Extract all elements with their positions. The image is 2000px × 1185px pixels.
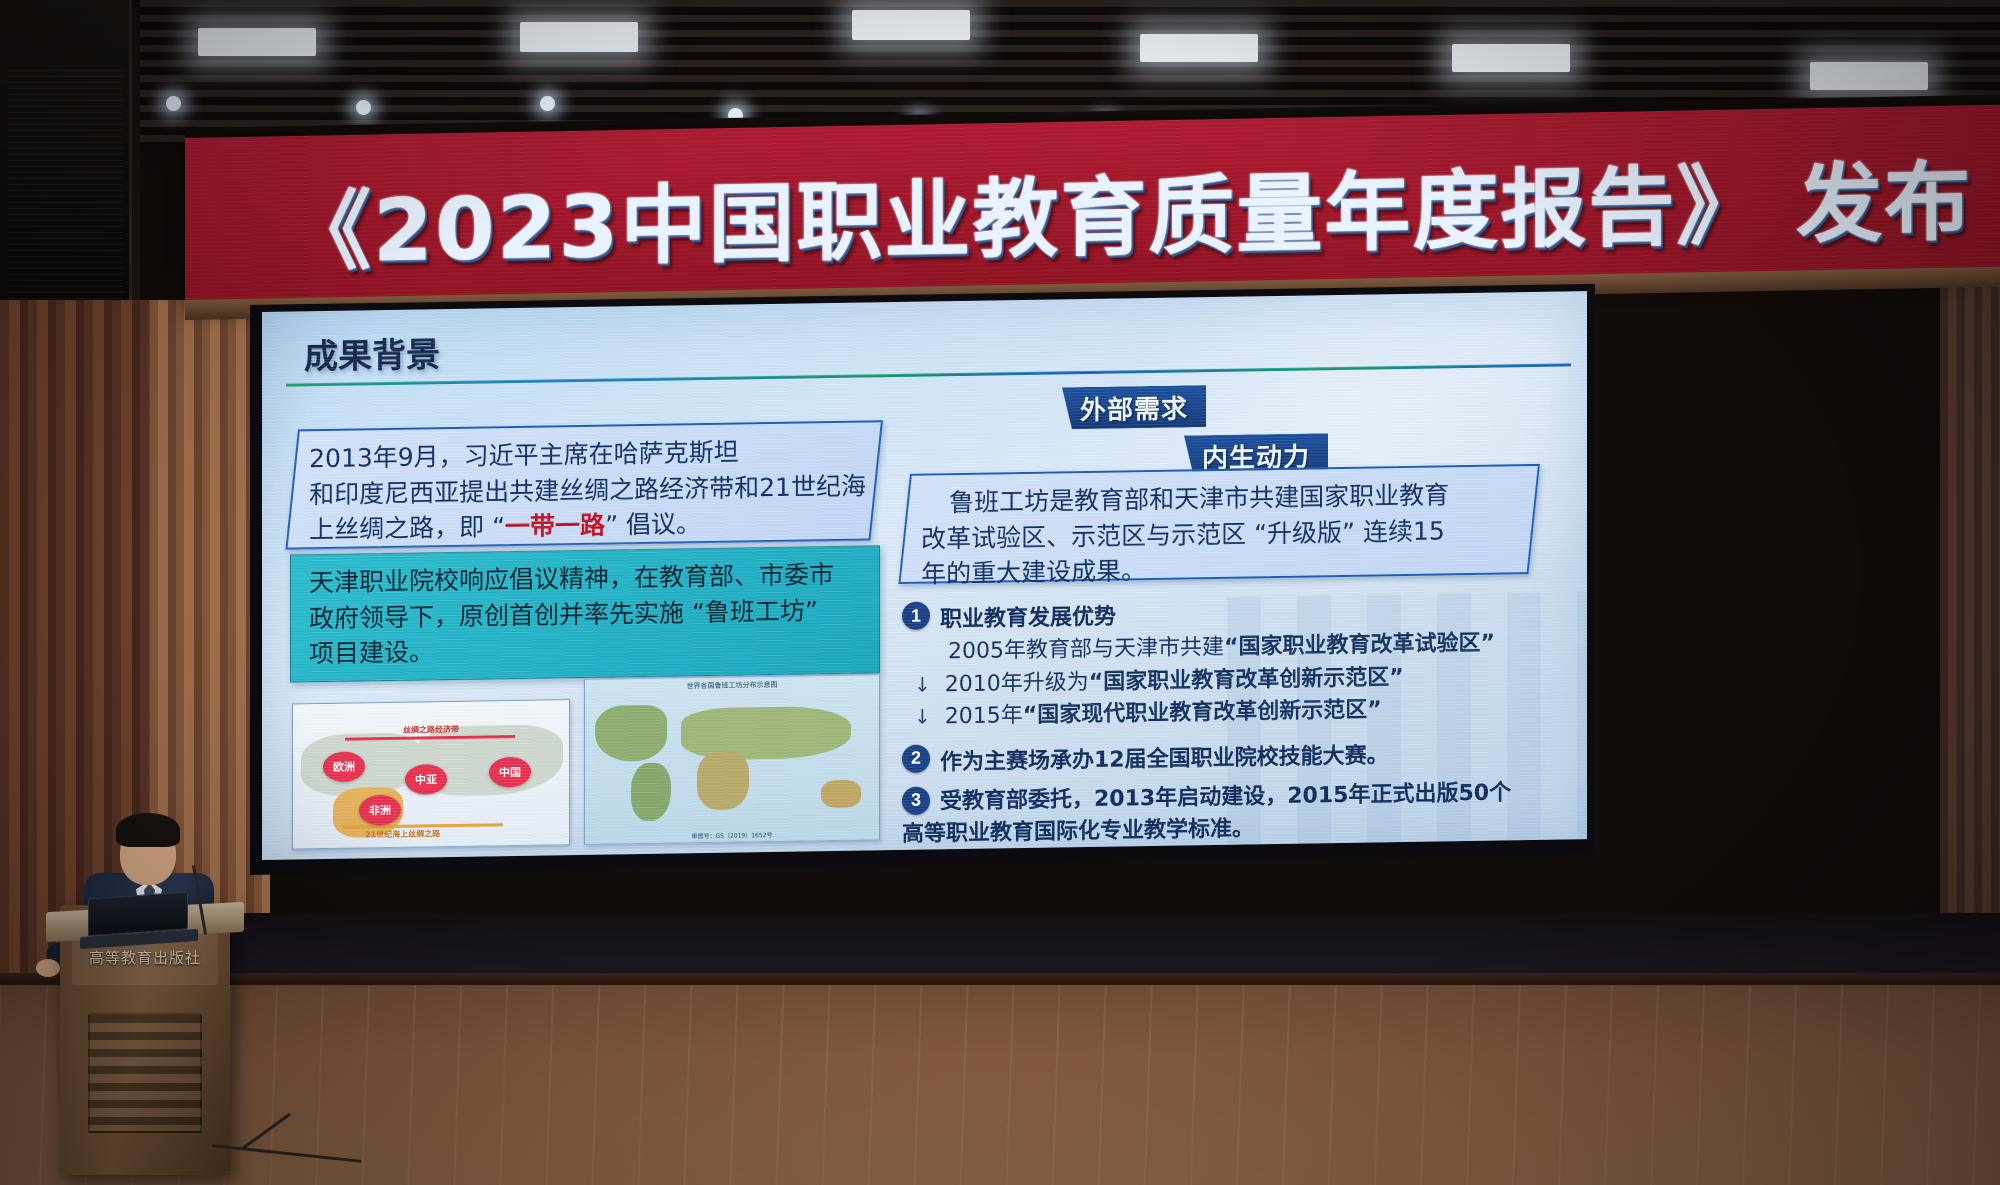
silk-road-map-image: 丝绸之路经济带 21世纪海上丝绸之路 欧洲 中亚 中国 非洲 — [292, 699, 570, 849]
subitem-text: 2015年 — [945, 703, 1023, 729]
ceiling-light-panel — [852, 10, 970, 40]
podium-carving — [88, 1013, 202, 1133]
quote-line-3: 上丝绸之路，即 “一带一路” 倡议。 — [309, 504, 858, 548]
quote-highlight-belt-and-road: 一带一路 — [505, 511, 605, 542]
ceiling-spotlight — [540, 96, 555, 111]
subitem-highlight: “国家现代职业教育改革创新示范区” — [1023, 698, 1382, 729]
laptop-screen — [88, 892, 188, 937]
subitem-highlight: “国家职业教育改革试验区” — [1224, 631, 1495, 660]
ceiling-light-panel — [198, 28, 316, 56]
podium-nameplate-text: 高等教育出版社 — [72, 947, 218, 968]
subitem-text: 2005年教育部与天津市共建 — [948, 635, 1224, 664]
world-map-australia — [821, 780, 861, 809]
callout-tab-external-demand: 外部需求 — [1062, 385, 1206, 429]
subitem-highlight: “国家职业教育改革创新示范区” — [1089, 665, 1404, 695]
world-map-north-america — [595, 705, 667, 762]
teal-line-3: 项目建设。 — [309, 628, 861, 672]
wall-speaker — [0, 0, 132, 330]
ceiling-spotlight — [356, 100, 371, 115]
quote-text-box: 2013年9月，习近平主席在哈萨克斯坦 和印度尼西亚提出共建丝绸之路经济带和21… — [285, 420, 883, 549]
luban-workshop-box: 鲁班工坊是教育部和天津市共建国家职业教育 改革试验区、示范区与示范区 “升级版”… — [898, 464, 1540, 584]
down-arrow-icon: ↓ — [914, 672, 931, 696]
stage-backdrop — [218, 913, 2000, 973]
slide-title: 成果背景 — [304, 327, 440, 378]
quote-line3-post: ” 倡议。 — [605, 509, 701, 540]
list-number-badge: 1 — [902, 602, 930, 630]
list-item-heading: 职业教育发展优势 — [940, 599, 1116, 634]
list-item: 3 受教育部委托，2013年启动建设，2015年正式出版50个 高等职业教育国际… — [902, 776, 1562, 850]
ceiling-light-panel — [1140, 34, 1258, 62]
ceiling-spotlight — [166, 96, 181, 111]
down-arrow-icon: ↓ — [914, 705, 931, 729]
ceiling-light-panel — [1452, 44, 1570, 72]
tianjin-initiative-box: 天津职业院校响应倡议精神，在教育部、市委市 政府领导下，原创首创并率先实施 “鲁… — [290, 545, 880, 682]
speaker-hand — [36, 959, 60, 977]
ceiling-light-panel — [1810, 62, 1928, 90]
list-item: 2 作为主赛场承办12届全国职业院校技能大赛。 — [902, 734, 1562, 776]
speaker-grille — [8, 70, 123, 320]
ceiling-light-panel — [520, 22, 638, 52]
list-number-badge: 3 — [902, 786, 930, 814]
list-number-badge: 2 — [902, 744, 930, 772]
silk-belt-label: 丝绸之路经济带 — [403, 724, 459, 736]
right-wood-panel — [1940, 230, 2000, 990]
list-item-heading: 作为主赛场承办12届全国职业院校技能大赛。 — [940, 737, 1389, 776]
list-item-heading-wrapped: 受教育部委托，2013年启动建设，2015年正式出版50个 高等职业教育国际化专… — [940, 777, 1511, 850]
conference-photo: 《2023中国职业教育质量年度报告》 发布 成果背景 外部需求 内生动力 201… — [0, 0, 2000, 1185]
subitem-text: 2010年升级为 — [945, 670, 1089, 697]
numbered-list: 1 职业教育发展优势 2005年教育部与天津市共建“国家职业教育改革试验区” ↓… — [902, 592, 1562, 854]
quote-line3-pre: 上丝绸之路，即 “ — [309, 512, 505, 544]
world-map-image: 世界各国鲁班工坊分布示意图 审图号：GS（2019）1652号 — [584, 674, 880, 845]
presentation-slide: 成果背景 外部需求 内生动力 2013年9月，习近平主席在哈萨克斯坦 和印度尼西… — [262, 291, 1587, 860]
silk-sea-label: 21世纪海上丝绸之路 — [365, 828, 440, 840]
world-map-africa — [697, 751, 749, 810]
speaker-hair — [116, 813, 180, 847]
